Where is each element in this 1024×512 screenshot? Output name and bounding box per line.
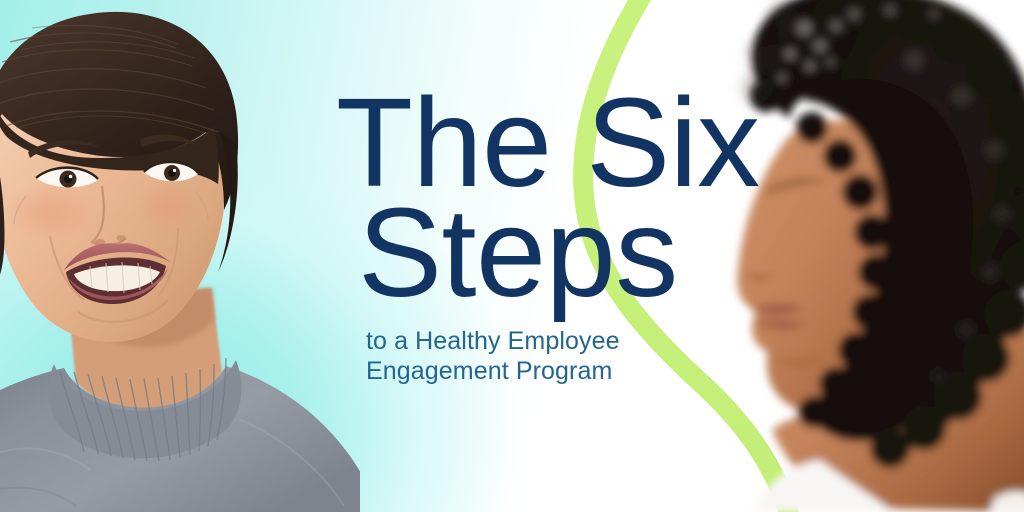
subtitle-block: to a Healthy Employee Engagement Program: [366, 326, 736, 386]
left-portrait-group: [0, 12, 360, 512]
left-woman-photo: [0, 0, 360, 512]
subtitle-line-1: to a Healthy Employee: [366, 326, 736, 356]
headline-line-2: Steps: [358, 198, 736, 308]
hero-banner: The Six Steps to a Healthy Employee Enga…: [0, 0, 1024, 512]
headline-block: The Six Steps to a Healthy Employee Enga…: [336, 88, 736, 386]
right-portrait-group: [737, 0, 1024, 512]
subtitle-line-2: Engagement Program: [366, 356, 736, 386]
